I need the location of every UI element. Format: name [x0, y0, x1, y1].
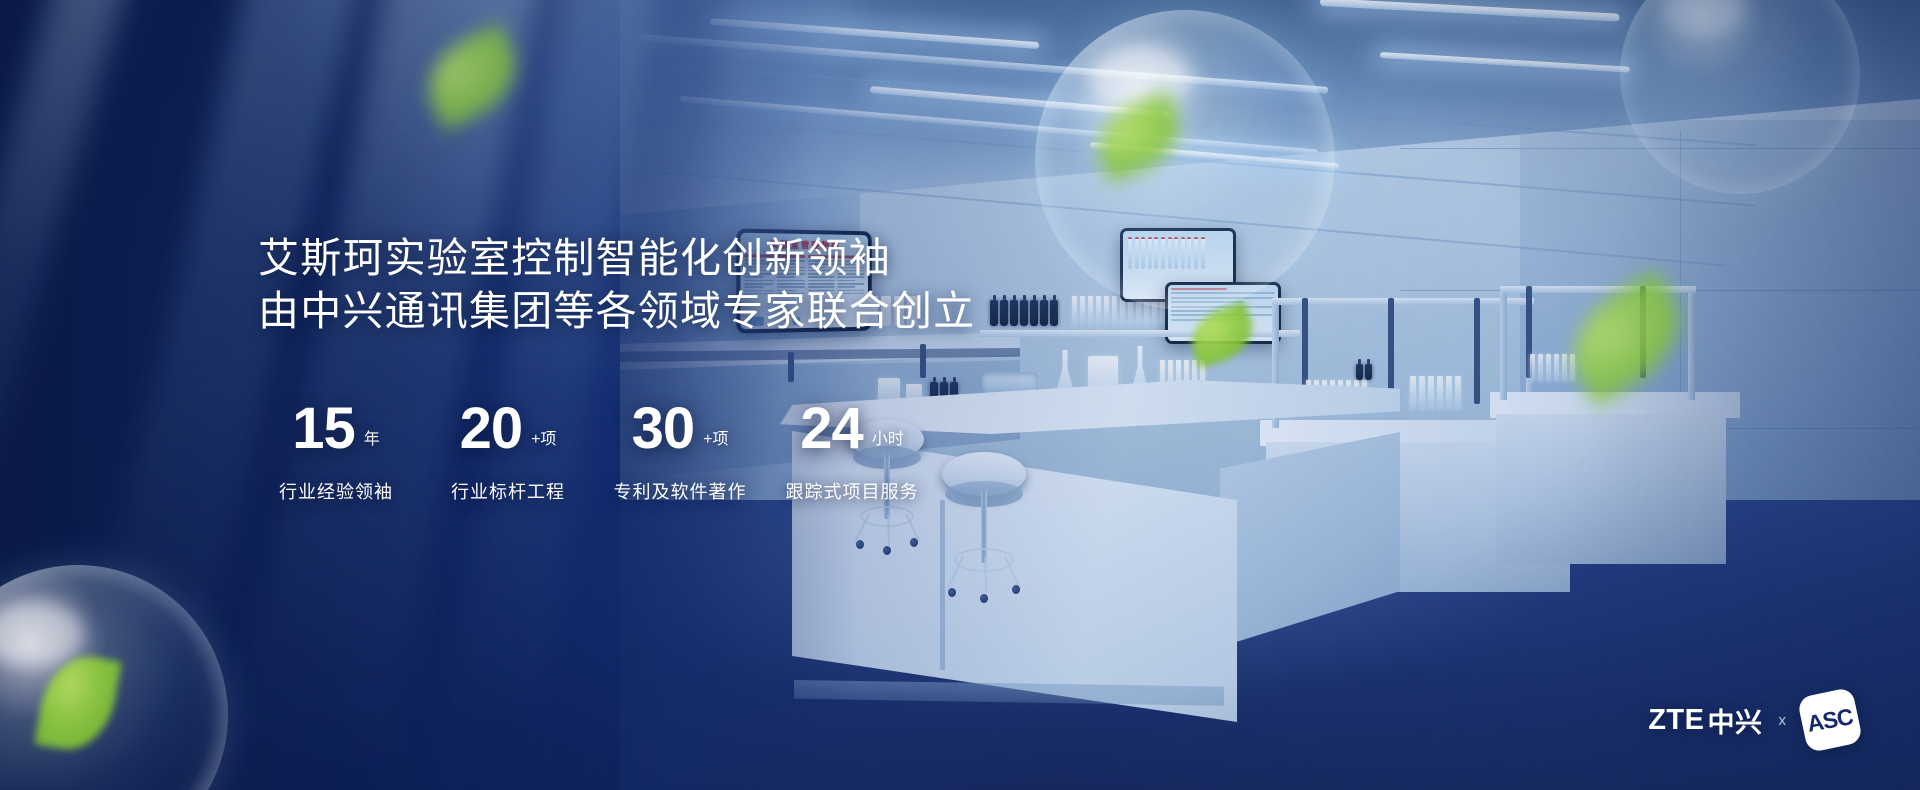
stat-number: 15 — [292, 400, 355, 458]
stats-row: 15 年 行业经验领袖 20 +项 行业标杆工程 30 +项 专利及软件著作 2… — [250, 400, 938, 504]
stat-number: 24 — [800, 400, 863, 458]
stat-label: 行业经验领袖 — [250, 478, 422, 504]
headline-line-2: 由中兴通讯集团等各领域专家联合创立 — [258, 285, 975, 338]
headline-line-1: 艾斯珂实验室控制智能化创新领袖 — [258, 232, 975, 285]
stat-label: 跟踪式项目服务 — [766, 478, 938, 504]
zte-chinese-text: 中兴 — [1708, 701, 1763, 740]
stat-label: 行业标杆工程 — [422, 478, 594, 504]
stat-item-benchmark-projects: 20 +项 行业标杆工程 — [422, 400, 594, 504]
stat-label: 专利及软件著作 — [594, 478, 766, 504]
asc-logo-text: ASC — [1805, 703, 1855, 738]
stat-number: 20 — [460, 400, 523, 458]
stat-item-service: 24 小时 跟踪式项目服务 — [766, 400, 938, 504]
stat-number: 30 — [632, 400, 695, 458]
stat-unit: 小时 — [872, 425, 904, 449]
hero-banner: 实验室管理制度 — [0, 0, 1920, 790]
stat-unit: +项 — [703, 425, 728, 449]
stat-item-patents: 30 +项 专利及软件著作 — [594, 400, 766, 504]
stat-unit: +项 — [531, 425, 556, 449]
headline-block: 艾斯珂实验室控制智能化创新领袖 由中兴通讯集团等各领域专家联合创立 — [258, 232, 975, 339]
asc-logo: ASC — [1797, 687, 1863, 753]
logo-lockup: ZTE 中兴 x ASC — [1648, 692, 1858, 748]
logo-separator: x — [1779, 712, 1787, 729]
stat-unit: 年 — [364, 425, 380, 449]
zte-latin-text: ZTE — [1648, 704, 1704, 737]
zte-logo: ZTE 中兴 — [1648, 701, 1762, 740]
stat-item-experience: 15 年 行业经验领袖 — [250, 400, 422, 504]
scene-vignette — [0, 0, 1920, 790]
